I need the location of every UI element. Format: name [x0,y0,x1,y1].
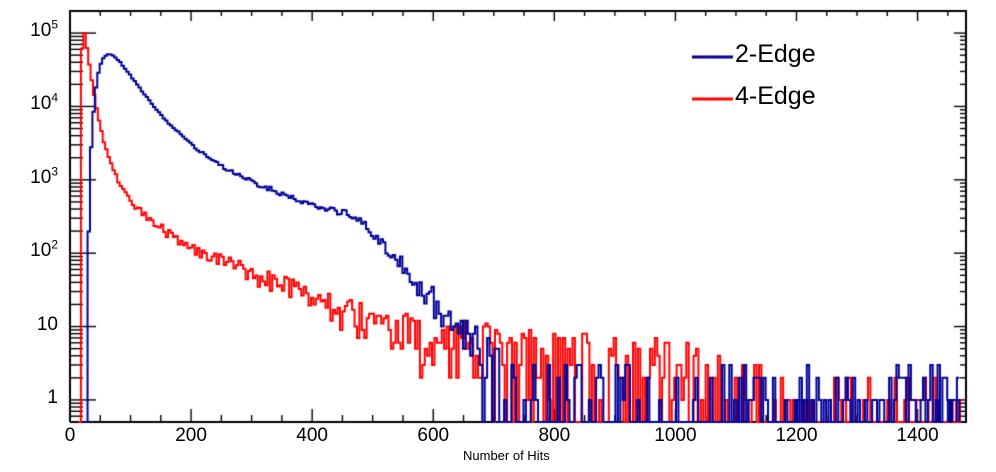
x-tick-label: 800 [524,425,584,447]
y-tick-label: 105 [8,20,58,42]
x-tick-label: 400 [282,425,342,447]
histogram-canvas [0,0,996,472]
x-tick-label: 200 [161,425,221,447]
x-tick-label: 1200 [766,425,826,447]
y-tick-label: 1 [8,387,58,409]
legend-label-2-edge: 2-Edge [735,40,816,69]
x-tick-label: 600 [403,425,463,447]
y-tick-label: 103 [8,167,58,189]
x-axis-title: Number of Hits [463,448,550,463]
chart-root: 1 10 102 103 104 105 0 200 400 600 800 1… [0,0,996,472]
y-tick-label: 10 [8,314,58,336]
legend-label-4-edge: 4-Edge [735,82,816,111]
y-tick-label: 104 [8,93,58,115]
x-tick-label: 0 [40,425,100,447]
y-tick-label: 102 [8,240,58,262]
x-tick-label: 1000 [645,425,705,447]
x-tick-label: 1400 [888,425,948,447]
